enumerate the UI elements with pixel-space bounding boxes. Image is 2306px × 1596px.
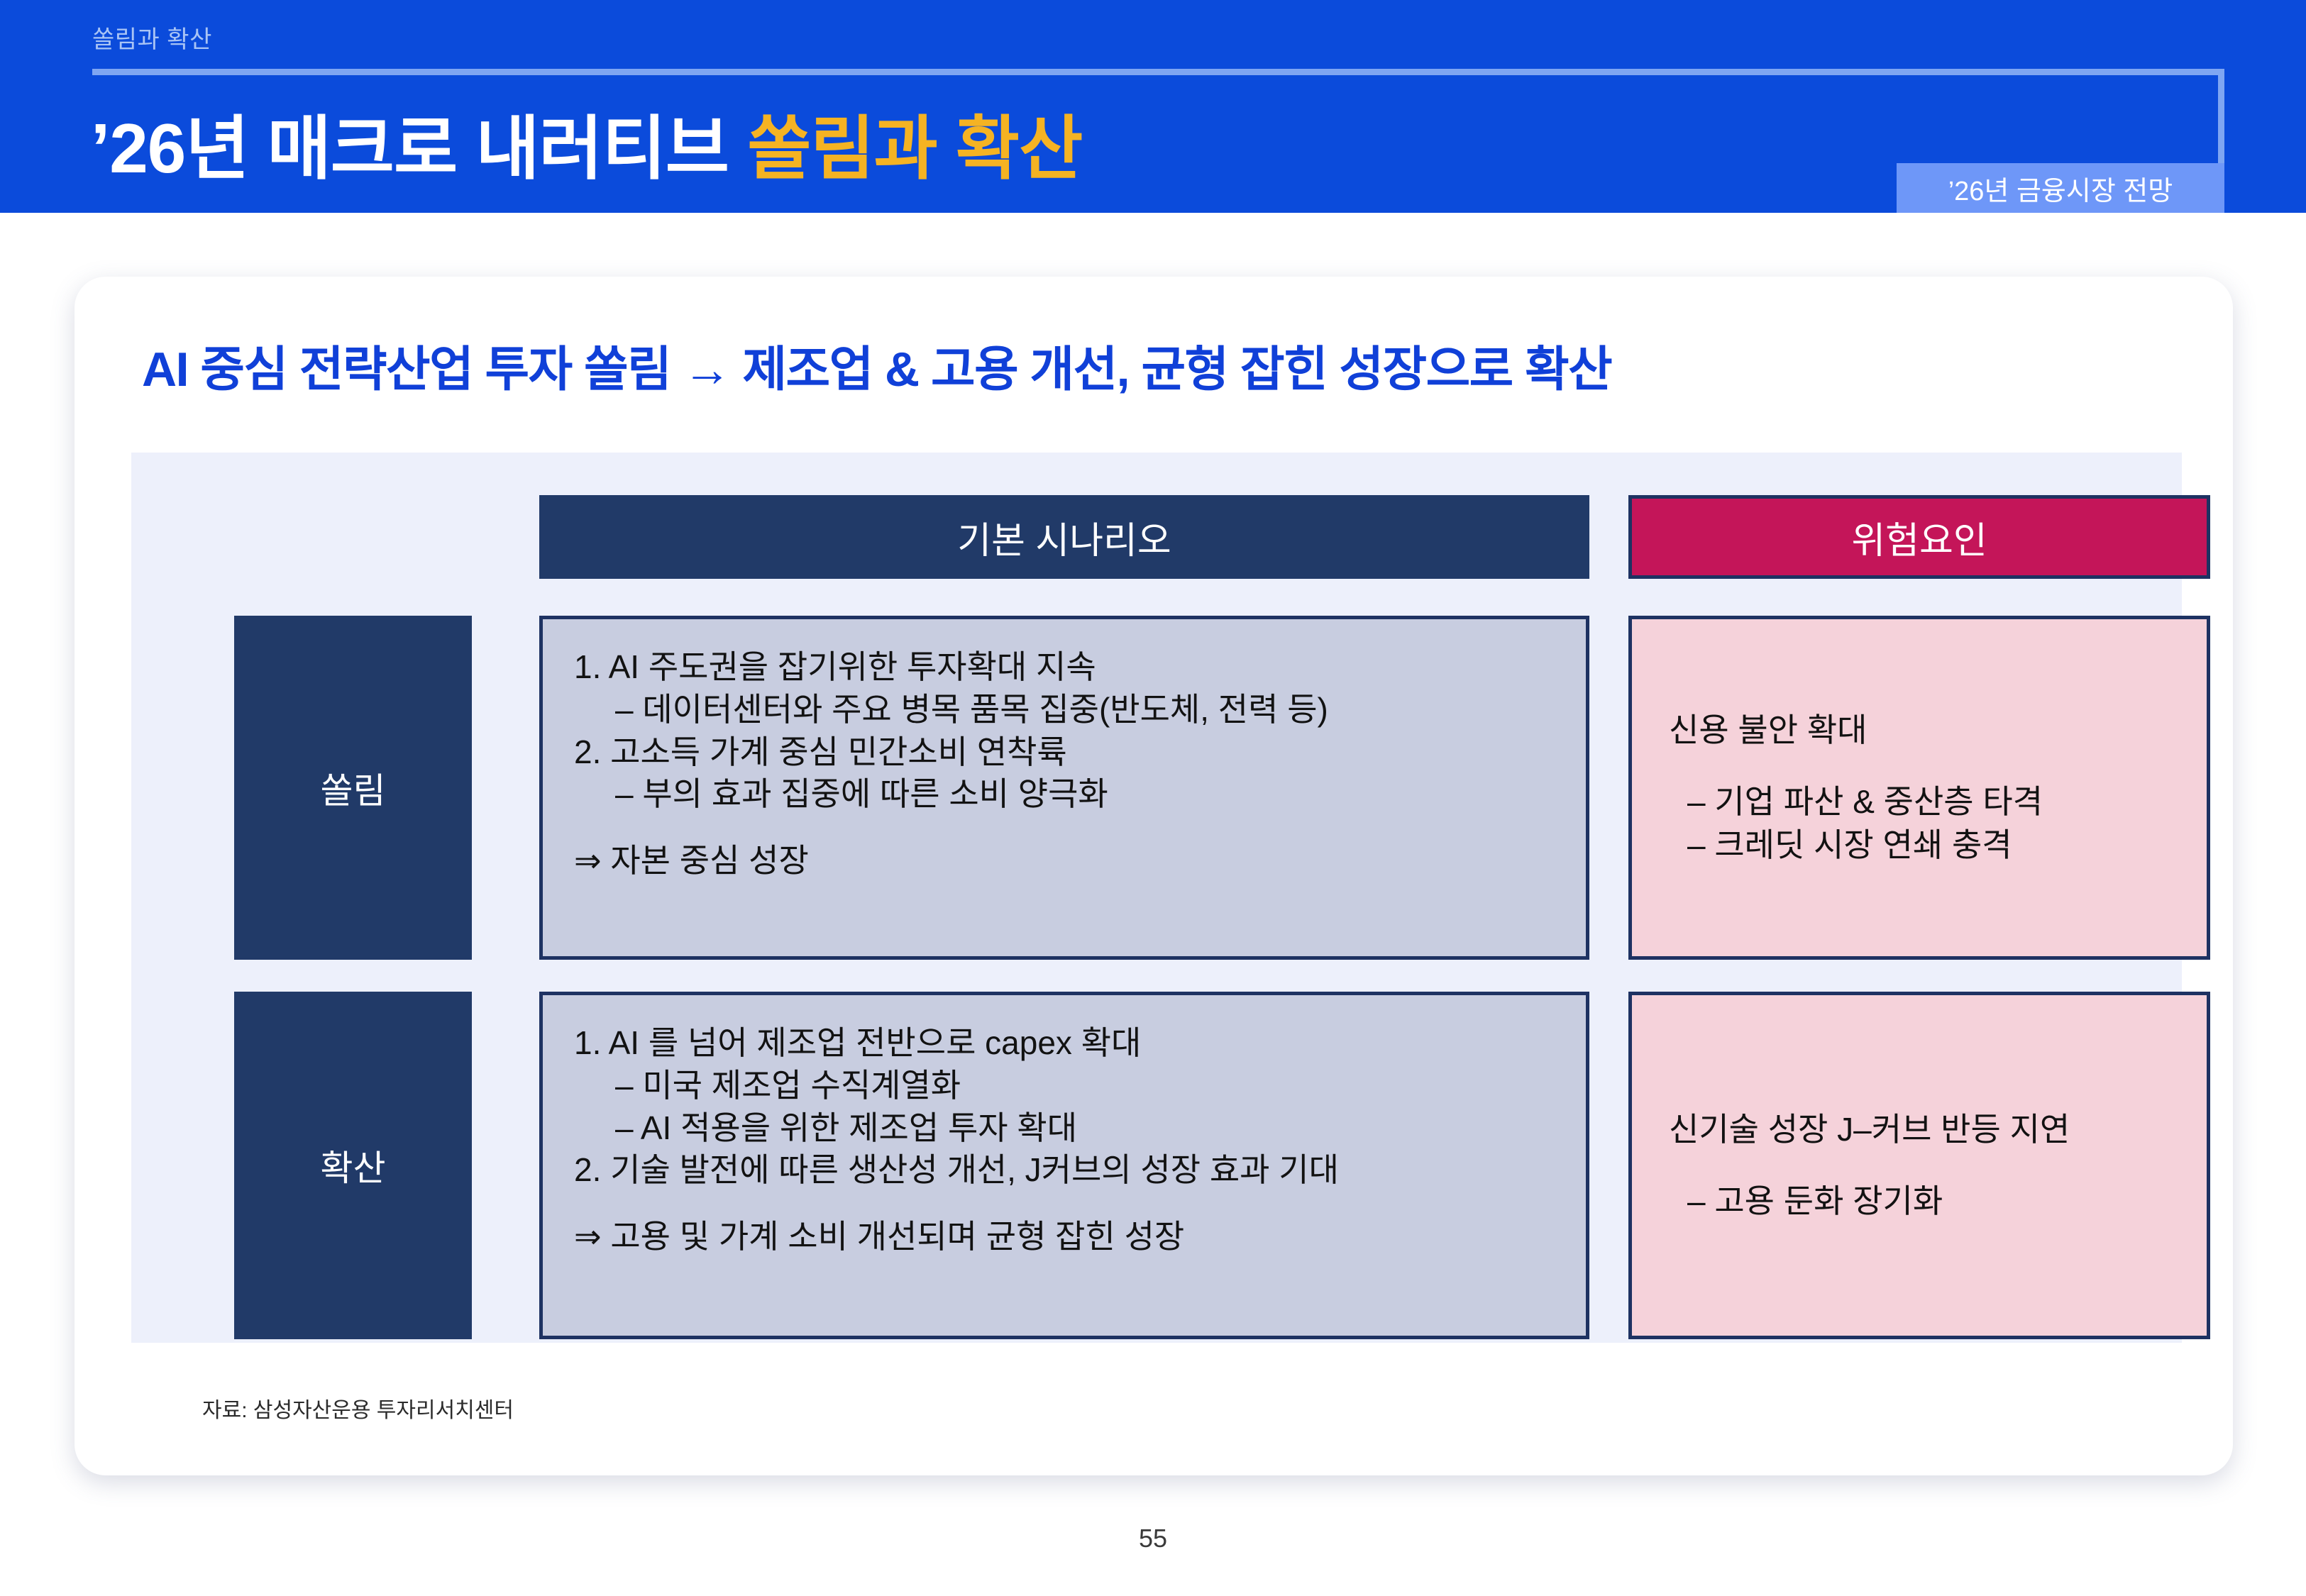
slide-header-band: 쏠림과 확산 ’26년 매크로 내러티브 쏠림과 확산 ’26년 금융시장 전망 [0, 0, 2306, 213]
list-item: – AI 적용을 위한 제조업 투자 확대 [574, 1107, 1555, 1150]
conclusion-line: ⇒ 자본 중심 성장 [574, 840, 1555, 882]
page-number: 55 [0, 1524, 2306, 1553]
section-badge: ’26년 금융시장 전망 [1897, 163, 2224, 213]
column-header-risk-factor: 위험요인 [1628, 495, 2210, 579]
content-card: AI 중심 전략산업 투자 쏠림 → 제조업 & 고용 개선, 균형 잡힌 성장… [75, 277, 2233, 1475]
cell-base-scenario-row1: 1. AI 주도권을 잡기위한 투자확대 지속 – 데이터센터와 주요 병목 품… [539, 616, 1589, 960]
list-item: – 데이터센터와 주요 병목 품목 집중(반도체, 전력 등) [574, 689, 1555, 731]
cell-risk-factor-row1: 신용 불안 확대 – 기업 파산 & 중산층 타격 – 크레딧 시장 연쇄 충격 [1628, 616, 2210, 960]
row-label-diffusion: 확산 [234, 992, 472, 1339]
list-item: – 미국 제조업 수직계열화 [574, 1065, 1555, 1107]
list-item: – 고용 둔화 장기화 [1669, 1180, 2170, 1223]
source-note: 자료: 삼성자산운용 투자리서치센터 [202, 1392, 514, 1424]
page-title-main: ’26년 매크로 내러티브 [91, 109, 747, 187]
row-label-concentration: 쏠림 [234, 616, 472, 960]
header-divider-rule-vertical [2218, 69, 2224, 168]
list-item: 1. AI 주도권을 잡기위한 투자확대 지속 [574, 646, 1555, 689]
list-item: – 기업 파산 & 중산층 타격 [1669, 780, 2170, 824]
page-title: ’26년 매크로 내러티브 쏠림과 확산 [91, 92, 1082, 193]
list-item: – 크레딧 시장 연쇄 충격 [1669, 824, 2170, 867]
cell-base-scenario-row2: 1. AI 를 넘어 제조업 전반으로 capex 확대 – 미국 제조업 수직… [539, 992, 1589, 1339]
breadcrumb: 쏠림과 확산 [92, 20, 212, 55]
conclusion-line: ⇒ 고용 및 가계 소비 개선되며 균형 잡힌 성장 [574, 1216, 1555, 1258]
risk-headline: 신용 불안 확대 [1669, 709, 2170, 752]
list-item: 1. AI 를 넘어 제조업 전반으로 capex 확대 [574, 1022, 1555, 1065]
list-item: – 부의 효과 집중에 따른 소비 양극화 [574, 773, 1555, 816]
list-item: 2. 기술 발전에 따른 생산성 개선, J커브의 성장 효과 기대 [574, 1149, 1555, 1192]
column-header-base-scenario: 기본 시나리오 [539, 495, 1589, 579]
card-heading: AI 중심 전략산업 투자 쏠림 → 제조업 & 고용 개선, 균형 잡힌 성장… [142, 330, 1611, 400]
page-title-accent: 쏠림과 확산 [747, 109, 1082, 187]
list-item: 2. 고소득 가계 중심 민간소비 연착륙 [574, 731, 1555, 774]
risk-headline: 신기술 성장 J–커브 반등 지연 [1669, 1108, 2170, 1151]
cell-risk-factor-row2: 신기술 성장 J–커브 반등 지연 – 고용 둔화 장기화 [1628, 992, 2210, 1339]
header-divider-rule [92, 69, 2224, 75]
scenario-matrix-panel: 기본 시나리오 위험요인 쏠림 1. AI 주도권을 잡기위한 투자확대 지속 … [131, 453, 2182, 1343]
